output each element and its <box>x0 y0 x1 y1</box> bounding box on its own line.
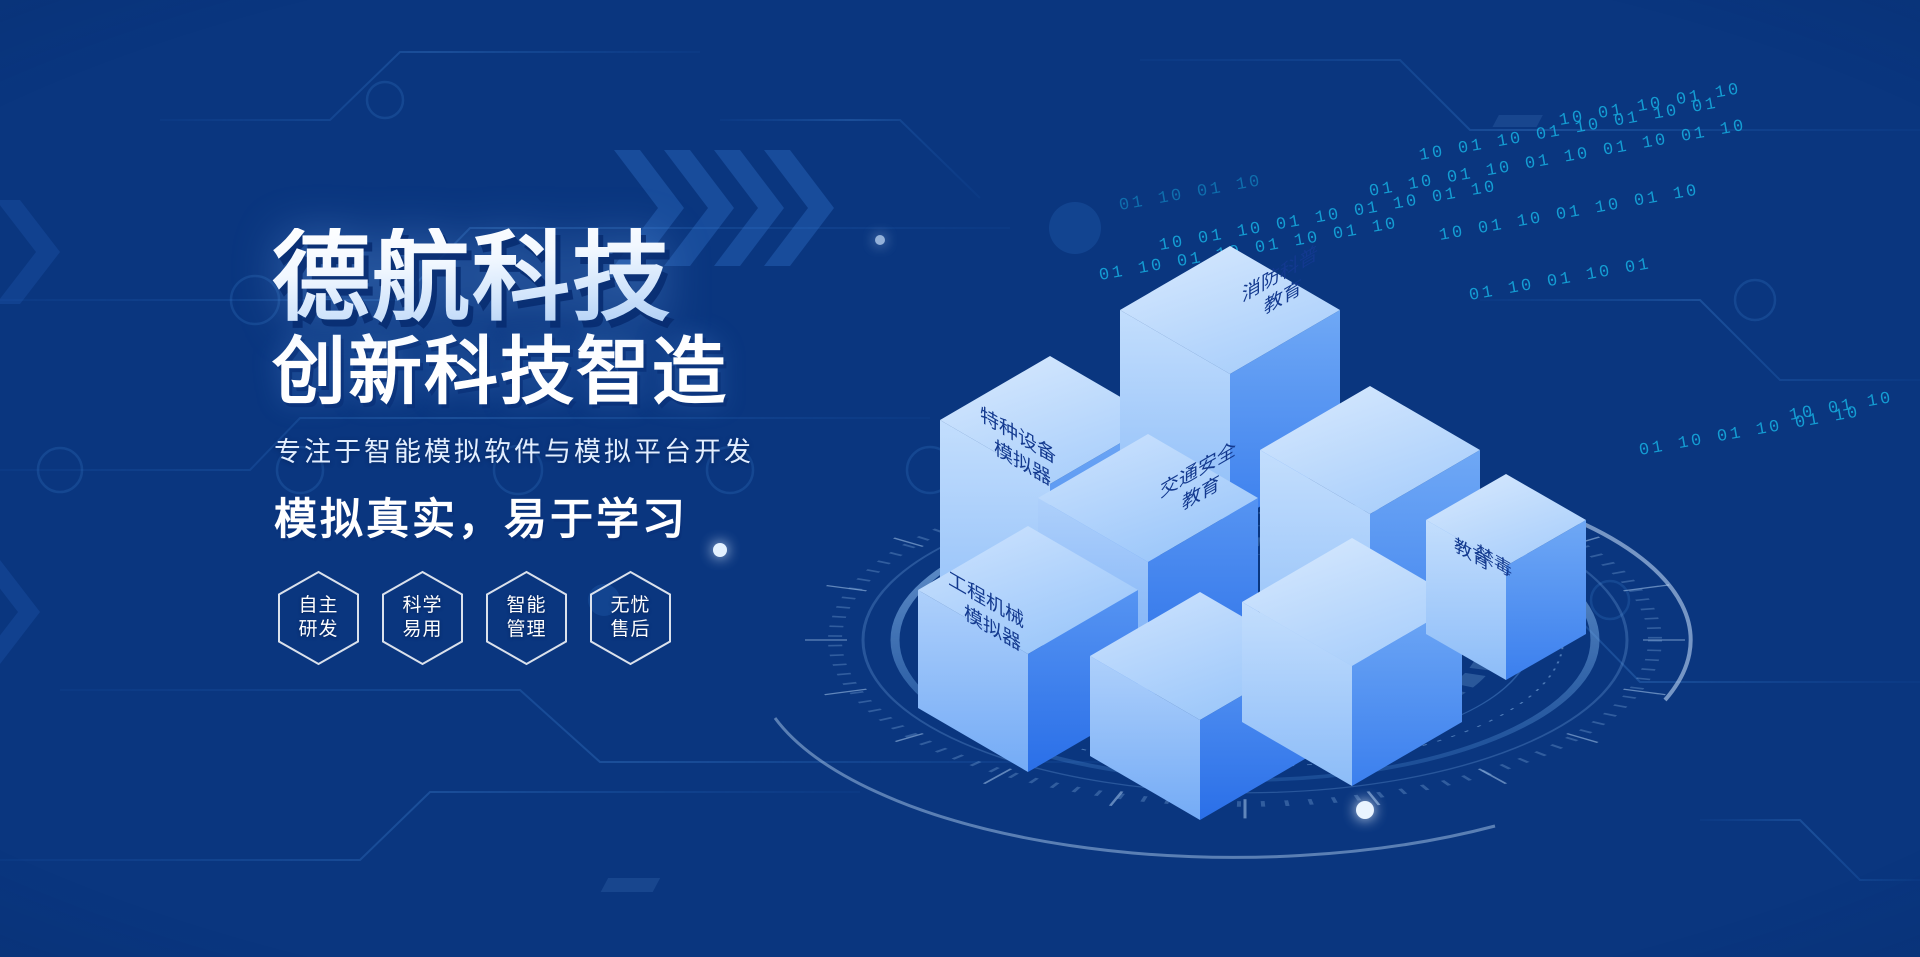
copy-block: 德航科技 创新科技智造 专注于智能模拟软件与模拟平台开发 模拟真实，易于学习 <box>272 228 892 547</box>
badge-scientific-easy[interactable]: 科学易用 <box>380 570 465 666</box>
badge-label: 自主研发 <box>298 594 338 643</box>
badge-self-developed[interactable]: 自主研发 <box>276 570 361 666</box>
slogan: 模拟真实，易于学习 <box>274 485 892 547</box>
cube-stack: 特种设备 模拟器 消防科普 教育 <box>918 238 1586 820</box>
badge-worry-free-support[interactable]: 无忧售后 <box>588 570 673 666</box>
badge-smart-management[interactable]: 智能管理 <box>484 570 569 666</box>
badge-label: 智能管理 <box>506 594 546 643</box>
badge-label: 科学易用 <box>402 594 442 643</box>
feature-badges: 自主研发 科学易用 智能管理 无忧售后 <box>276 570 673 666</box>
promo-banner: 01 10 01 10 01 10 01 10 10 01 10 01 10 0… <box>0 0 1920 957</box>
tagline: 专注于智能模拟软件与模拟平台开发 <box>274 430 892 469</box>
badge-label: 无忧售后 <box>610 594 650 643</box>
brand-name: 德航科技 <box>272 228 892 326</box>
isometric-cubes-illustration: 特种设备 模拟器 消防科普 教育 <box>790 120 1880 920</box>
headline: 创新科技智造 <box>272 332 892 412</box>
